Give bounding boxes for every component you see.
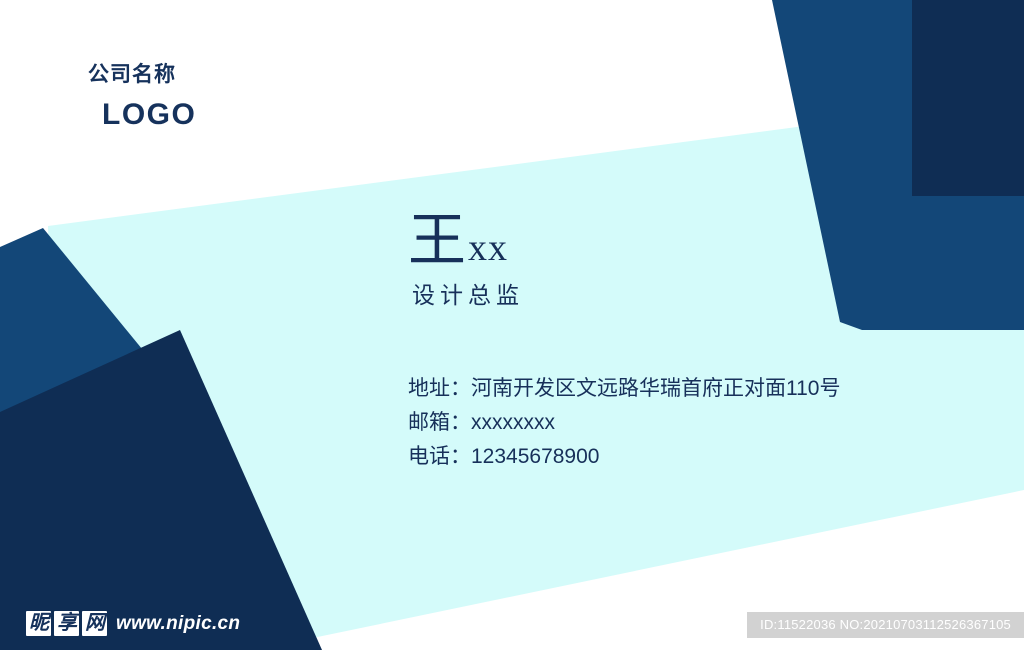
image-id-badge: ID:11522036 NO:20210703112526367105 xyxy=(747,612,1024,638)
left-blue-accent-shape xyxy=(0,228,210,650)
person-block: 王xx 设计总监 xyxy=(408,212,928,307)
person-name: 王xx xyxy=(408,212,928,270)
site-watermark: 昵 享 网 www.nipic.cn xyxy=(26,611,240,636)
nipic-logo-char-3: 网 xyxy=(82,611,107,636)
person-given-name: xx xyxy=(468,227,508,269)
business-card-canvas: 公司名称 LOGO 王xx 设计总监 地址：河南开发区文远路华瑞首府正对面110… xyxy=(0,0,1024,650)
nipic-logo: 昵 享 网 xyxy=(26,611,107,636)
left-dark-navy-shape xyxy=(0,330,322,650)
contact-phone-line: 电话：12345678900 xyxy=(408,440,968,474)
top-right-navy-rectangle xyxy=(912,0,1024,196)
person-job-title: 设计总监 xyxy=(412,284,928,307)
company-block: 公司名称 LOGO xyxy=(88,62,348,134)
nipic-logo-char-1: 昵 xyxy=(26,611,51,636)
company-name: 公司名称 xyxy=(88,62,348,88)
contact-block: 地址：河南开发区文远路华瑞首府正对面110号 邮箱：xxxxxxxx 电话：12… xyxy=(408,372,968,474)
contact-email-line: 邮箱：xxxxxxxx xyxy=(408,406,968,440)
contact-address-line: 地址：河南开发区文远路华瑞首府正对面110号 xyxy=(408,372,968,406)
person-surname: 王 xyxy=(408,208,466,273)
watermark-url-text: www.nipic.cn xyxy=(116,613,240,635)
company-logo-text: LOGO xyxy=(102,95,348,134)
nipic-logo-char-2: 享 xyxy=(54,611,79,636)
